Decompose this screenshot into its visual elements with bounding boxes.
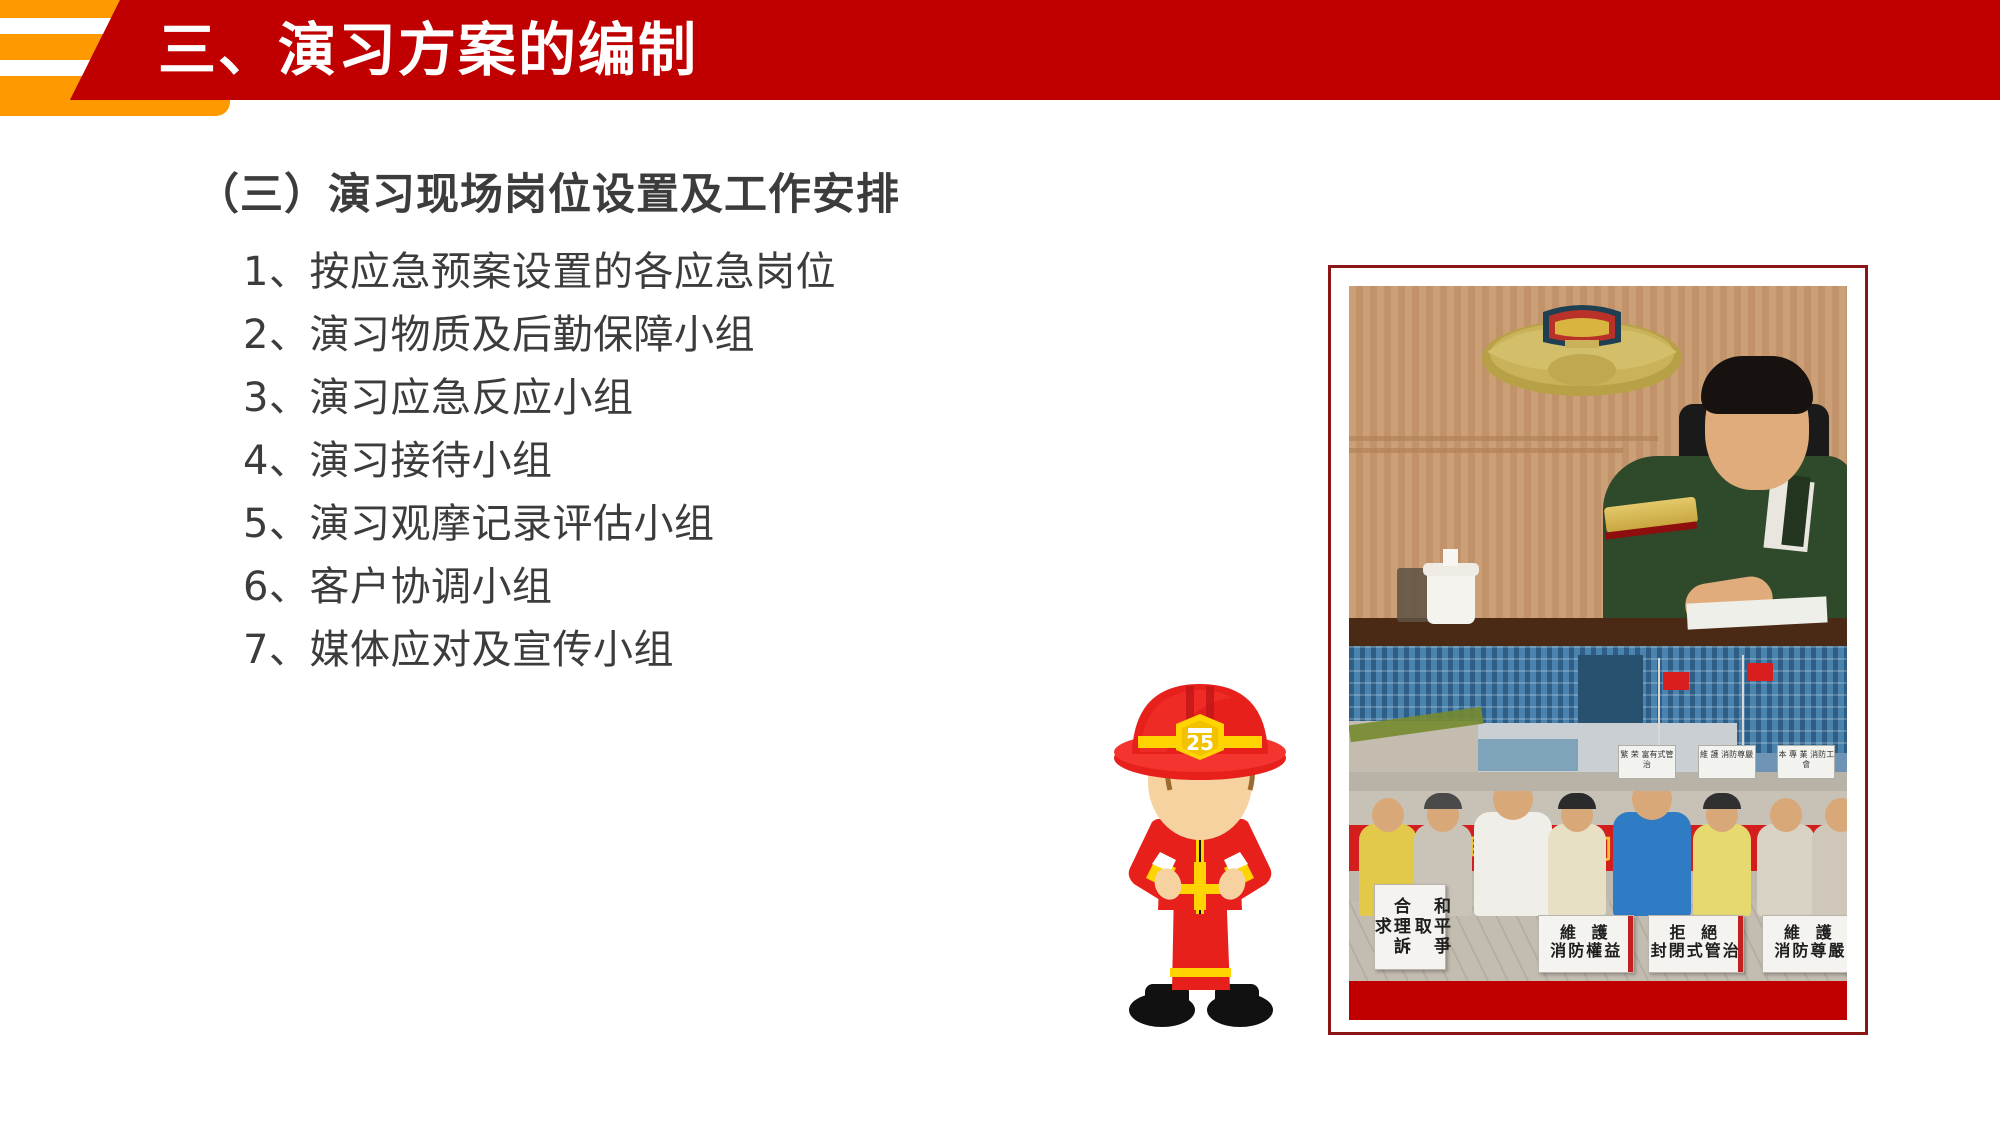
protest-sign: 維 護 消防權益: [1538, 915, 1634, 973]
firefighter-protest-photo: 争 取 共 同 维 护 尊 严: [1349, 791, 1847, 981]
list-item-label: 客户协调小组: [309, 564, 552, 610]
sign-red-edge: [1628, 916, 1633, 972]
government-building-photo: 繁 荣 富有式管治 維 護 消防尊嚴 本 專 業 消防工會: [1349, 646, 1847, 791]
list-item: 1、按应急预案设置的各应急岗位: [243, 241, 836, 304]
plaza-ground: [1349, 772, 1847, 791]
person-cap: [1703, 793, 1741, 809]
protest-sign: 維 護 消防尊嚴: [1762, 915, 1847, 973]
list-item-label: 演习观摩记录评估小组: [309, 501, 714, 547]
protest-sign-line-1: 合理訴求: [1371, 889, 1409, 965]
list-item-label: 演习应急反应小组: [309, 375, 633, 421]
person-head: [1770, 798, 1802, 832]
photo-collage-frame: 繁 荣 富有式管治 維 護 消防尊嚴 本 專 業 消防工會 争 取 共 同 维 …: [1328, 265, 1868, 1035]
protest-sign-line-2: 和平爭取: [1411, 889, 1449, 965]
seated-person: [1613, 812, 1691, 916]
seated-person: [1474, 812, 1552, 916]
list-item: 3、演习应急反应小组: [243, 367, 836, 430]
list-item-number: 1、: [243, 249, 309, 295]
seated-person: [1812, 824, 1847, 916]
person-head: [1825, 798, 1847, 832]
placard: 維 護 消防尊嚴: [1698, 745, 1756, 779]
header-stripe-1: [0, 18, 112, 34]
svg-text:25: 25: [1186, 731, 1214, 755]
red-flag: [1747, 663, 1773, 681]
person-cap: [1424, 793, 1462, 809]
protest-sign: 拒 絕 封閉式管治: [1648, 915, 1744, 973]
photo-footer-bar: [1349, 981, 1847, 1020]
person-head: [1493, 791, 1533, 820]
list-item: 6、客户协调小组: [243, 556, 836, 619]
red-flag: [1663, 672, 1689, 690]
list-item-number: 2、: [243, 312, 309, 358]
seated-person: [1757, 824, 1815, 916]
protest-sign-line-2: 消防權益: [1539, 942, 1633, 960]
photo-stack: 繁 荣 富有式管治 維 護 消防尊嚴 本 專 業 消防工會 争 取 共 同 维 …: [1349, 286, 1847, 1020]
list-item-number: 6、: [243, 564, 309, 610]
flag-pole: [1742, 655, 1744, 757]
protest-sign-line-2: 消防尊嚴: [1763, 942, 1847, 960]
task-list: 1、按应急预案设置的各应急岗位 2、演习物质及后勤保障小组 3、演习应急反应小组…: [243, 241, 836, 682]
person-head: [1632, 791, 1672, 820]
placard: 本 專 業 消防工會: [1777, 745, 1835, 779]
officer-hair: [1701, 356, 1813, 414]
list-item-number: 4、: [243, 438, 309, 484]
sign-red-edge: [1738, 916, 1743, 972]
seated-person: [1548, 824, 1606, 916]
list-item-number: 7、: [243, 627, 309, 673]
protest-sign-line-1: 維 護: [1539, 924, 1633, 942]
list-item: 7、媒体应对及宣传小组: [243, 619, 836, 682]
tea-cup: [1427, 572, 1475, 624]
protest-sign-line-2: 封閉式管治: [1649, 942, 1743, 960]
protest-sign-line-1: 維 護: [1763, 924, 1847, 942]
seated-person: [1693, 824, 1751, 916]
section-subtitle: （三）演习现场岗位设置及工作安排: [196, 160, 900, 222]
list-item: 4、演习接待小组: [243, 430, 836, 493]
slide-root: 三、演习方案的编制 （三）演习现场岗位设置及工作安排 1、按应急预案设置的各应急…: [0, 0, 2000, 1125]
national-emblem-icon: [1477, 296, 1687, 416]
person-head: [1372, 798, 1404, 832]
list-item-number: 5、: [243, 501, 309, 547]
protest-sign-line-1: 拒 絕: [1649, 924, 1743, 942]
officer-briefing-photo: [1349, 286, 1847, 646]
wall-trim-line: [1349, 448, 1623, 453]
header-stripe-2: [0, 60, 96, 76]
protest-sign: 合理訴求 和平爭取: [1374, 884, 1446, 970]
placard: 繁 荣 富有式管治: [1618, 745, 1676, 779]
list-item: 5、演习观摩记录评估小组: [243, 493, 836, 556]
list-item: 2、演习物质及后勤保障小组: [243, 304, 836, 367]
header-orange-tab: [0, 100, 230, 116]
firefighter-mascot-icon: 25: [1100, 672, 1300, 1032]
list-item-label: 按应急预案设置的各应急岗位: [309, 249, 836, 295]
building-entrance: [1478, 739, 1578, 771]
list-item-label: 媒体应对及宣传小组: [309, 627, 674, 673]
page-title: 三、演习方案的编制: [158, 9, 698, 91]
list-item-label: 演习物质及后勤保障小组: [309, 312, 755, 358]
list-item-number: 3、: [243, 375, 309, 421]
wall-trim-line: [1349, 436, 1658, 441]
list-item-label: 演习接待小组: [309, 438, 552, 484]
tea-cup-knob: [1443, 549, 1458, 566]
